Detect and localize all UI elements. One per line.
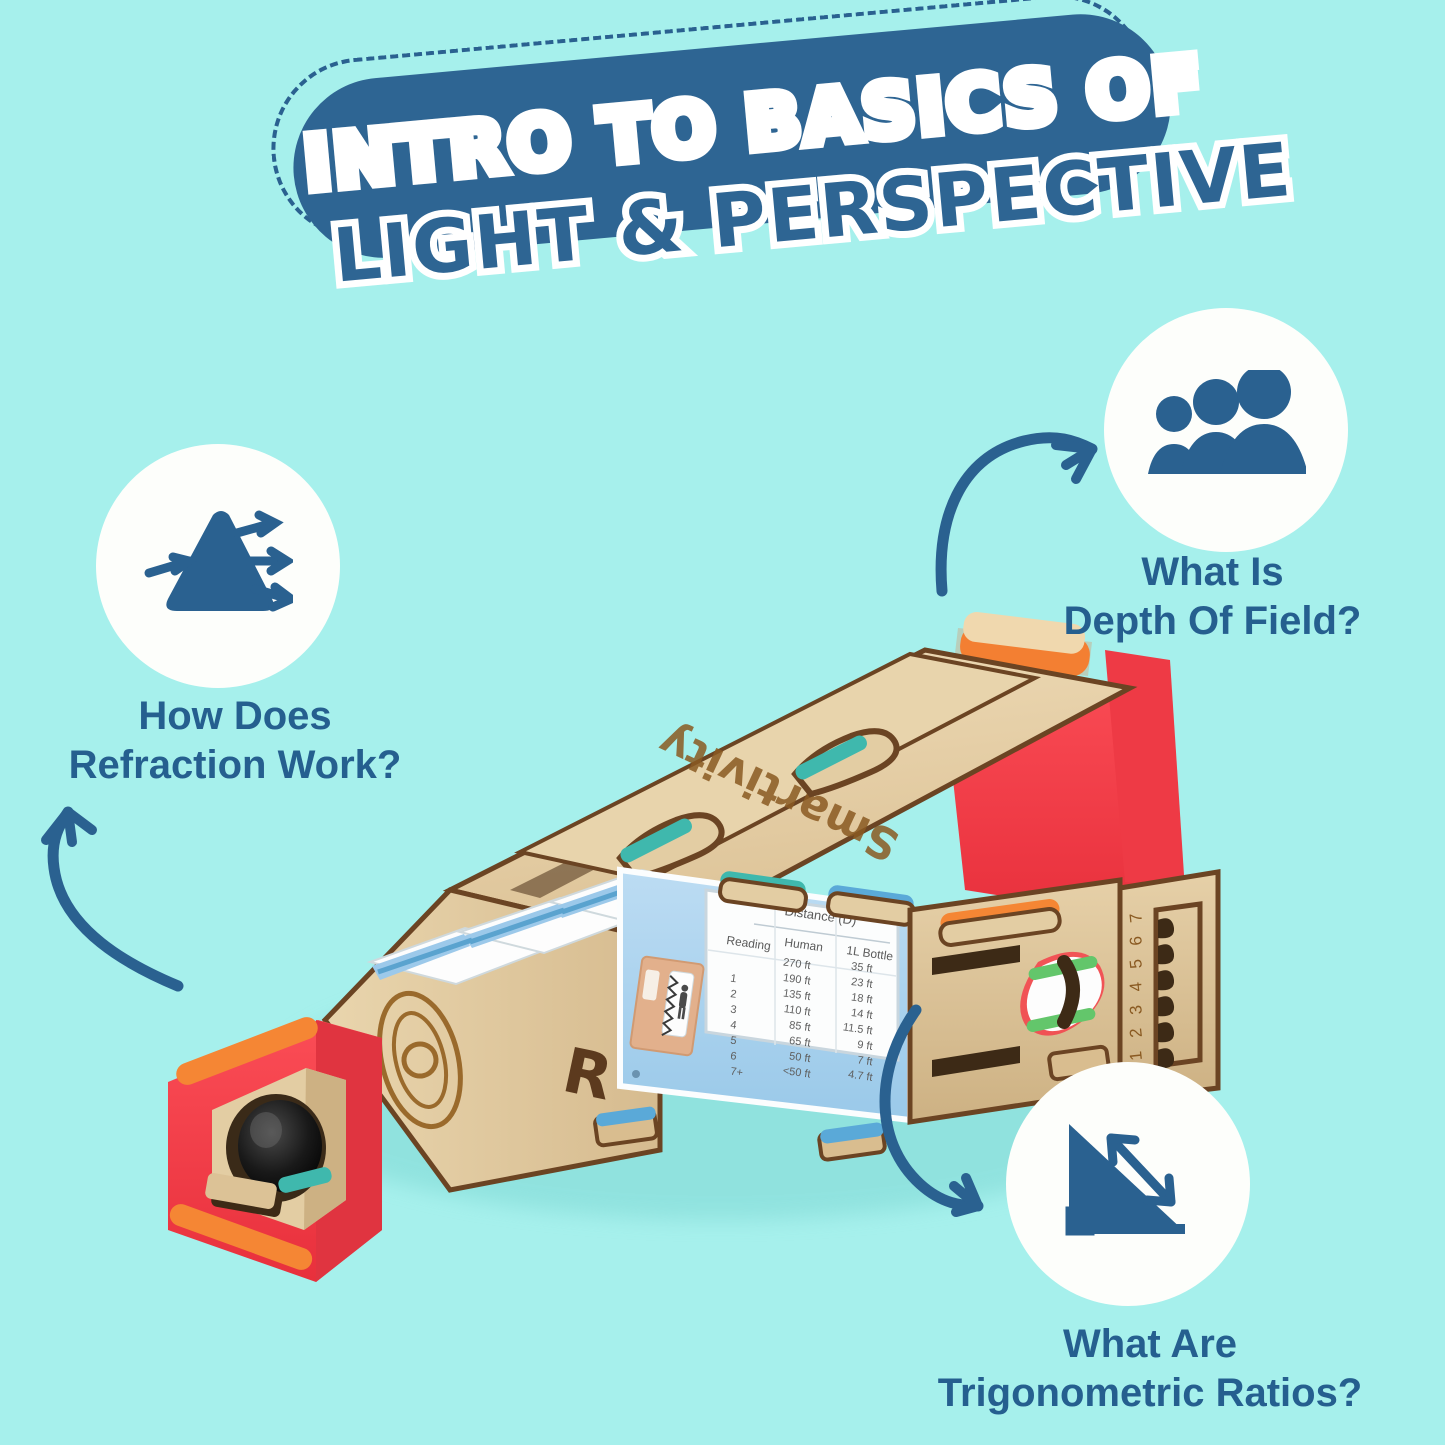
focus-scale-digit: 2 [1126,1027,1146,1038]
arrow-to-refraction [10,790,200,990]
feature-icon-circle-trigonometry[interactable] [1006,1062,1250,1306]
focus-scale-digit: 5 [1126,958,1146,969]
feature-label-trigonometry: What Are Trigonometric Ratios? [855,1320,1445,1418]
title-banner: INTRO TO BASICS OF LIGHT & PERSPECTIVE [262,22,1182,262]
focus-scale-digit: 6 [1126,935,1146,946]
feature-icon-circle-depth-of-field[interactable] [1104,308,1348,552]
poster-canvas: INTRO TO BASICS OF LIGHT & PERSPECTIVE [0,0,1445,1445]
chart-cell: 7+ [730,1066,744,1080]
human-scale-sticker [630,956,704,1056]
focus-scale-digit: 3 [1126,1004,1146,1015]
group-of-people-icon [1146,370,1306,490]
feature-icon-circle-refraction[interactable] [96,444,340,688]
focus-scale-digit: 7 [1126,912,1146,923]
front-foam-frame [167,1014,382,1282]
feature-label-refraction: How Does Refraction Work? [0,692,470,790]
focus-scale-digit: 4 [1126,981,1146,992]
right-triangle-hypotenuse-icon [1053,1114,1203,1254]
prism-refraction-icon [143,501,293,631]
feature-label-depth-of-field: What Is Depth Of Field? [980,548,1445,646]
focus-scale-digit: 1 [1126,1050,1146,1061]
